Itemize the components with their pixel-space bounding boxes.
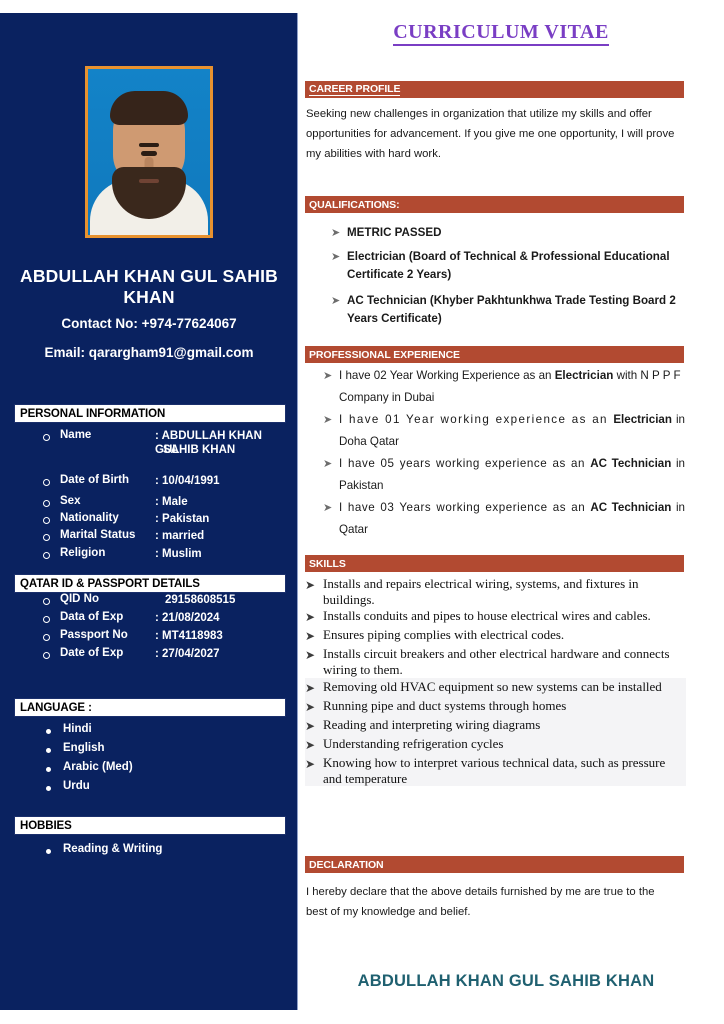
- applicant-name: ABDULLAH KHAN GUL SAHIB KHAN: [8, 266, 290, 308]
- applicant-name-line1: ABDULLAH KHAN GUL SAHIB: [8, 266, 290, 287]
- cv-page: ABDULLAH KHAN GUL SAHIB KHAN Contact No:…: [0, 0, 724, 1024]
- personal-info-value-religion: : Muslim: [155, 547, 202, 561]
- qualifications-heading: QUALIFICATIONS:: [305, 196, 684, 213]
- skill-item: ➤ Understanding refrigeration cycles: [305, 736, 686, 754]
- circle-bullet-icon: [43, 552, 50, 559]
- skill-item-text: Installs and repairs electrical wiring, …: [323, 576, 686, 607]
- disc-bullet-icon: [46, 729, 51, 734]
- disc-bullet-icon: [46, 786, 51, 791]
- personal-info-value-nationality: : Pakistan: [155, 512, 209, 526]
- email-address: Email: qarargham91@gmail.com: [8, 345, 290, 360]
- circle-bullet-icon: [43, 434, 50, 441]
- arrow-bullet-icon: ➤: [305, 646, 323, 677]
- declaration-text: I hereby declare that the above details …: [306, 882, 678, 922]
- experience-pre: I have 05 years working experience as an: [339, 457, 590, 470]
- qualification-item-text: METRIC PASSED: [347, 224, 681, 242]
- career-profile-text: Seeking new challenges in organization t…: [306, 104, 683, 164]
- skill-item-text: Removing old HVAC equipment so new syste…: [323, 679, 662, 697]
- main-content: CURRICULUM VITAE CAREER PROFILE Seeking …: [305, 0, 724, 1024]
- skill-item: ➤ Running pipe and duct systems through …: [305, 698, 686, 716]
- career-profile-heading-text: CAREER PROFILE: [309, 83, 400, 96]
- experience-role: AC Technician: [590, 501, 671, 514]
- skill-item-text: Knowing how to interpret various technic…: [323, 755, 686, 786]
- qualification-item: ➤ Electrician (Board of Technical & Prof…: [331, 248, 687, 284]
- applicant-photo: [85, 66, 213, 238]
- qualification-item-text: Electrician (Board of Technical & Profes…: [347, 248, 687, 284]
- personal-information-heading: PERSONAL INFORMATION: [14, 404, 286, 423]
- experience-pre: I have 03 Years working experience as an: [339, 501, 590, 514]
- passport-label-date-of-exp: Date of Exp: [60, 647, 123, 659]
- page-title-text: CURRICULUM VITAE: [393, 21, 609, 46]
- qatar-id-heading: QATAR ID & PASSPORT DETAILS: [14, 574, 286, 593]
- skill-item-text: Understanding refrigeration cycles: [323, 736, 503, 754]
- language-item-arabic: Arabic (Med): [63, 761, 133, 773]
- disc-bullet-icon: [46, 748, 51, 753]
- circle-bullet-icon: [43, 634, 50, 641]
- arrow-bullet-icon: ➤: [305, 679, 323, 697]
- arrow-bullet-icon: ➤: [323, 409, 339, 453]
- language-heading: LANGUAGE :: [14, 698, 286, 717]
- skill-item-text: Installs circuit breakers and other elec…: [323, 646, 686, 677]
- circle-bullet-icon: [43, 616, 50, 623]
- photo-mouth: [139, 179, 159, 183]
- arrow-bullet-icon: ➤: [331, 248, 347, 284]
- hobbies-item-reading-writing: Reading & Writing: [63, 843, 162, 855]
- skill-item-text: Running pipe and duct systems through ho…: [323, 698, 566, 716]
- skills-list: ➤ Installs and repairs electrical wiring…: [305, 576, 686, 787]
- circle-bullet-icon: [43, 479, 50, 486]
- passport-value-date-of-exp: : 27/04/2027: [155, 647, 220, 661]
- arrow-bullet-icon: ➤: [305, 608, 323, 626]
- sidebar-panel: ABDULLAH KHAN GUL SAHIB KHAN Contact No:…: [0, 13, 298, 1010]
- arrow-bullet-icon: ➤: [331, 292, 347, 328]
- experience-item-text: I have 02 Year Working Experience as an …: [339, 365, 685, 409]
- personal-info-label-sex: Sex: [60, 495, 80, 507]
- hobbies-heading: HOBBIES: [14, 816, 286, 835]
- career-profile-heading: CAREER PROFILE: [305, 81, 684, 98]
- arrow-bullet-icon: ➤: [305, 755, 323, 786]
- personal-info-value-marital-status: : married: [155, 529, 204, 543]
- experience-role: AC Technician: [590, 457, 671, 470]
- contact-number: Contact No: +974-77624067: [8, 316, 290, 331]
- experience-item: ➤ I have 03 Years working experience as …: [323, 497, 685, 541]
- experience-item: ➤ I have 05 years working experience as …: [323, 453, 685, 497]
- arrow-bullet-icon: ➤: [305, 576, 323, 607]
- qid-label-data-of-exp: Data of Exp: [60, 611, 123, 623]
- qualification-item-text: AC Technician (Khyber Pakhtunkhwa Trade …: [347, 292, 687, 328]
- language-item-hindi: Hindi: [63, 723, 92, 735]
- personal-info-value-dob: : 10/04/1991: [155, 474, 220, 488]
- skill-item-text: Reading and interpreting wiring diagrams: [323, 717, 540, 735]
- professional-experience-heading: PROFESSIONAL EXPERIENCE: [305, 346, 684, 363]
- professional-experience-heading-text: PROFESSIONAL EXPERIENCE: [309, 349, 460, 361]
- experience-role: Electrician: [613, 413, 672, 426]
- qid-label-number: QID No: [60, 593, 99, 605]
- skills-shaded-group: ➤ Removing old HVAC equipment so new sys…: [305, 678, 686, 786]
- skill-item: ➤ Knowing how to interpret various techn…: [305, 755, 686, 786]
- passport-label-number: Passport No: [60, 629, 128, 641]
- photo-hair: [110, 91, 188, 125]
- language-item-english: English: [63, 742, 105, 754]
- skill-item-text: Installs conduits and pipes to house ele…: [323, 608, 651, 626]
- experience-pre: I have 02 Year Working Experience as an: [339, 369, 555, 382]
- page-title: CURRICULUM VITAE: [305, 21, 697, 44]
- arrow-bullet-icon: ➤: [331, 224, 347, 242]
- skills-heading-text: SKILLS: [309, 558, 346, 570]
- declaration-heading: DECLARATION: [305, 856, 684, 873]
- experience-item-text: I have 01 Year working experience as an …: [339, 409, 685, 453]
- experience-item-text: I have 03 Years working experience as an…: [339, 497, 685, 541]
- passport-value-number: : MT4118983: [155, 629, 223, 643]
- photo-eyebrow-right: [143, 143, 159, 147]
- experience-item: ➤ I have 02 Year Working Experience as a…: [323, 365, 685, 409]
- personal-info-value-sex: : Male: [155, 495, 188, 509]
- arrow-bullet-icon: ➤: [305, 698, 323, 716]
- arrow-bullet-icon: ➤: [305, 717, 323, 735]
- circle-bullet-icon: [43, 500, 50, 507]
- circle-bullet-icon: [43, 534, 50, 541]
- personal-info-label-marital-status: Marital Status: [60, 529, 135, 541]
- skill-item-text: Ensures piping complies with electrical …: [323, 627, 564, 645]
- skill-item: ➤ Ensures piping complies with electrica…: [305, 627, 686, 645]
- personal-info-label-religion: Religion: [60, 547, 105, 559]
- personal-info-label-nationality: Nationality: [60, 512, 119, 524]
- qualifications-heading-text: QUALIFICATIONS:: [309, 199, 399, 211]
- arrow-bullet-icon: ➤: [323, 497, 339, 541]
- arrow-bullet-icon: ➤: [305, 627, 323, 645]
- photo-eye-right: [145, 151, 157, 156]
- skill-item: ➤ Installs and repairs electrical wiring…: [305, 576, 686, 607]
- personal-info-label-name: Name: [60, 429, 91, 441]
- qualification-item: ➤ AC Technician (Khyber Pakhtunkhwa Trad…: [331, 292, 687, 328]
- experience-role: Electrician: [555, 369, 614, 382]
- applicant-name-line2: KHAN: [8, 287, 290, 308]
- declaration-heading-text: DECLARATION: [309, 859, 384, 871]
- arrow-bullet-icon: ➤: [323, 365, 339, 409]
- personal-info-label-dob: Date of Birth: [60, 474, 129, 486]
- experience-item-text: I have 05 years working experience as an…: [339, 453, 685, 497]
- experience-pre: I have 01 Year working experience as an: [339, 413, 613, 426]
- skill-item: ➤ Installs conduits and pipes to house e…: [305, 608, 686, 626]
- disc-bullet-icon: [46, 849, 51, 854]
- skill-item: ➤ Removing old HVAC equipment so new sys…: [305, 679, 686, 697]
- personal-info-value-name-cont: SAHIB KHAN: [163, 443, 293, 457]
- disc-bullet-icon: [46, 767, 51, 772]
- qid-value-data-of-exp: : 21/08/2024: [155, 611, 220, 625]
- qid-value-number: 29158608515: [165, 593, 235, 607]
- circle-bullet-icon: [43, 652, 50, 659]
- signature-name: ABDULLAH KHAN GUL SAHIB KHAN: [305, 972, 707, 991]
- arrow-bullet-icon: ➤: [305, 736, 323, 754]
- skill-item: ➤ Installs circuit breakers and other el…: [305, 646, 686, 677]
- skill-item: ➤ Reading and interpreting wiring diagra…: [305, 717, 686, 735]
- experience-item: ➤ I have 01 Year working experience as a…: [323, 409, 685, 453]
- language-item-urdu: Urdu: [63, 780, 90, 792]
- circle-bullet-icon: [43, 517, 50, 524]
- arrow-bullet-icon: ➤: [323, 453, 339, 497]
- qualification-item: ➤ METRIC PASSED: [331, 224, 681, 242]
- circle-bullet-icon: [43, 598, 50, 605]
- skills-heading: SKILLS: [305, 555, 684, 572]
